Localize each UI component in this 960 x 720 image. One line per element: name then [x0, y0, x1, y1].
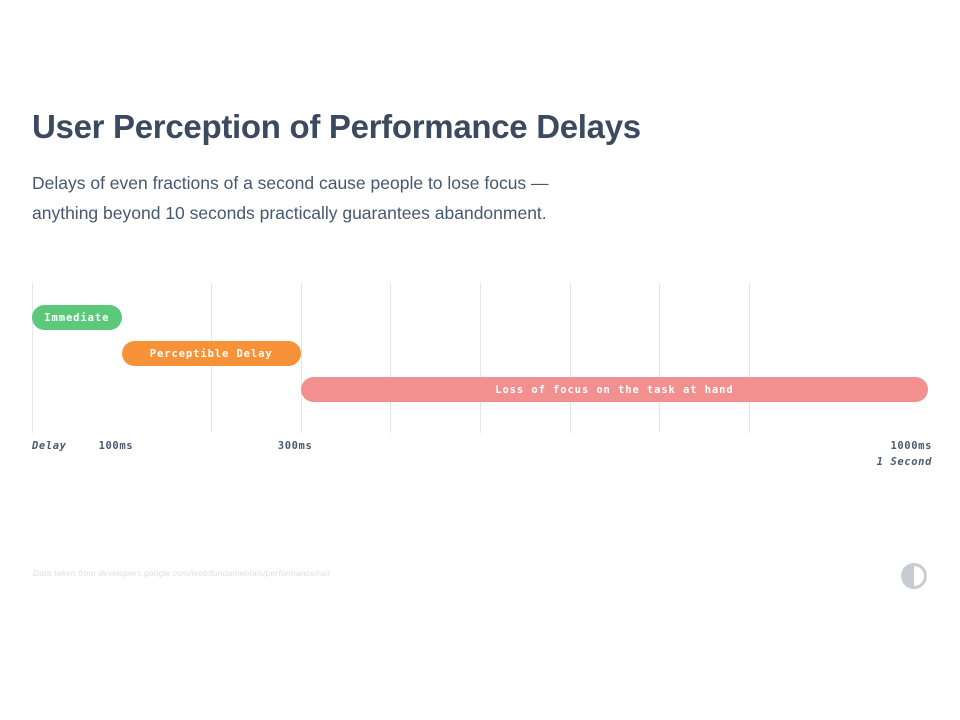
page-subtitle: Delays of even fractions of a second cau… [32, 168, 549, 228]
chart-bar-label: Perceptible Delay [150, 348, 273, 360]
axis-tick-label: 300ms [278, 440, 313, 452]
chart-axis: Delay100ms300ms1000ms1 Second [32, 440, 932, 480]
slide-canvas: User Perception of Performance Delays De… [0, 0, 960, 720]
chart-bar-label: Loss of focus on the task at hand [495, 384, 733, 396]
subtitle-line-1: Delays of even fractions of a second cau… [32, 168, 549, 198]
chart-bar: Loss of focus on the task at hand [301, 377, 928, 402]
source-attribution: Data taken from developers.google.com/we… [33, 568, 330, 578]
subtitle-line-2: anything beyond 10 seconds practically g… [32, 198, 549, 228]
axis-tick-label: Delay [32, 440, 67, 452]
chart-bar: Immediate [32, 305, 122, 330]
chart-bar-label: Immediate [44, 312, 109, 324]
axis-tick-label: 1000ms [890, 440, 932, 452]
axis-tick-label: 1 Second [877, 456, 932, 468]
page-title: User Perception of Performance Delays [32, 108, 641, 146]
half-disc-logo-icon [901, 563, 927, 589]
chart-bars: ImmediatePerceptible DelayLoss of focus … [32, 283, 928, 433]
chart-bar: Perceptible Delay [122, 341, 301, 366]
delay-timeline-chart: ImmediatePerceptible DelayLoss of focus … [32, 283, 928, 433]
axis-tick-label: 100ms [99, 440, 134, 452]
